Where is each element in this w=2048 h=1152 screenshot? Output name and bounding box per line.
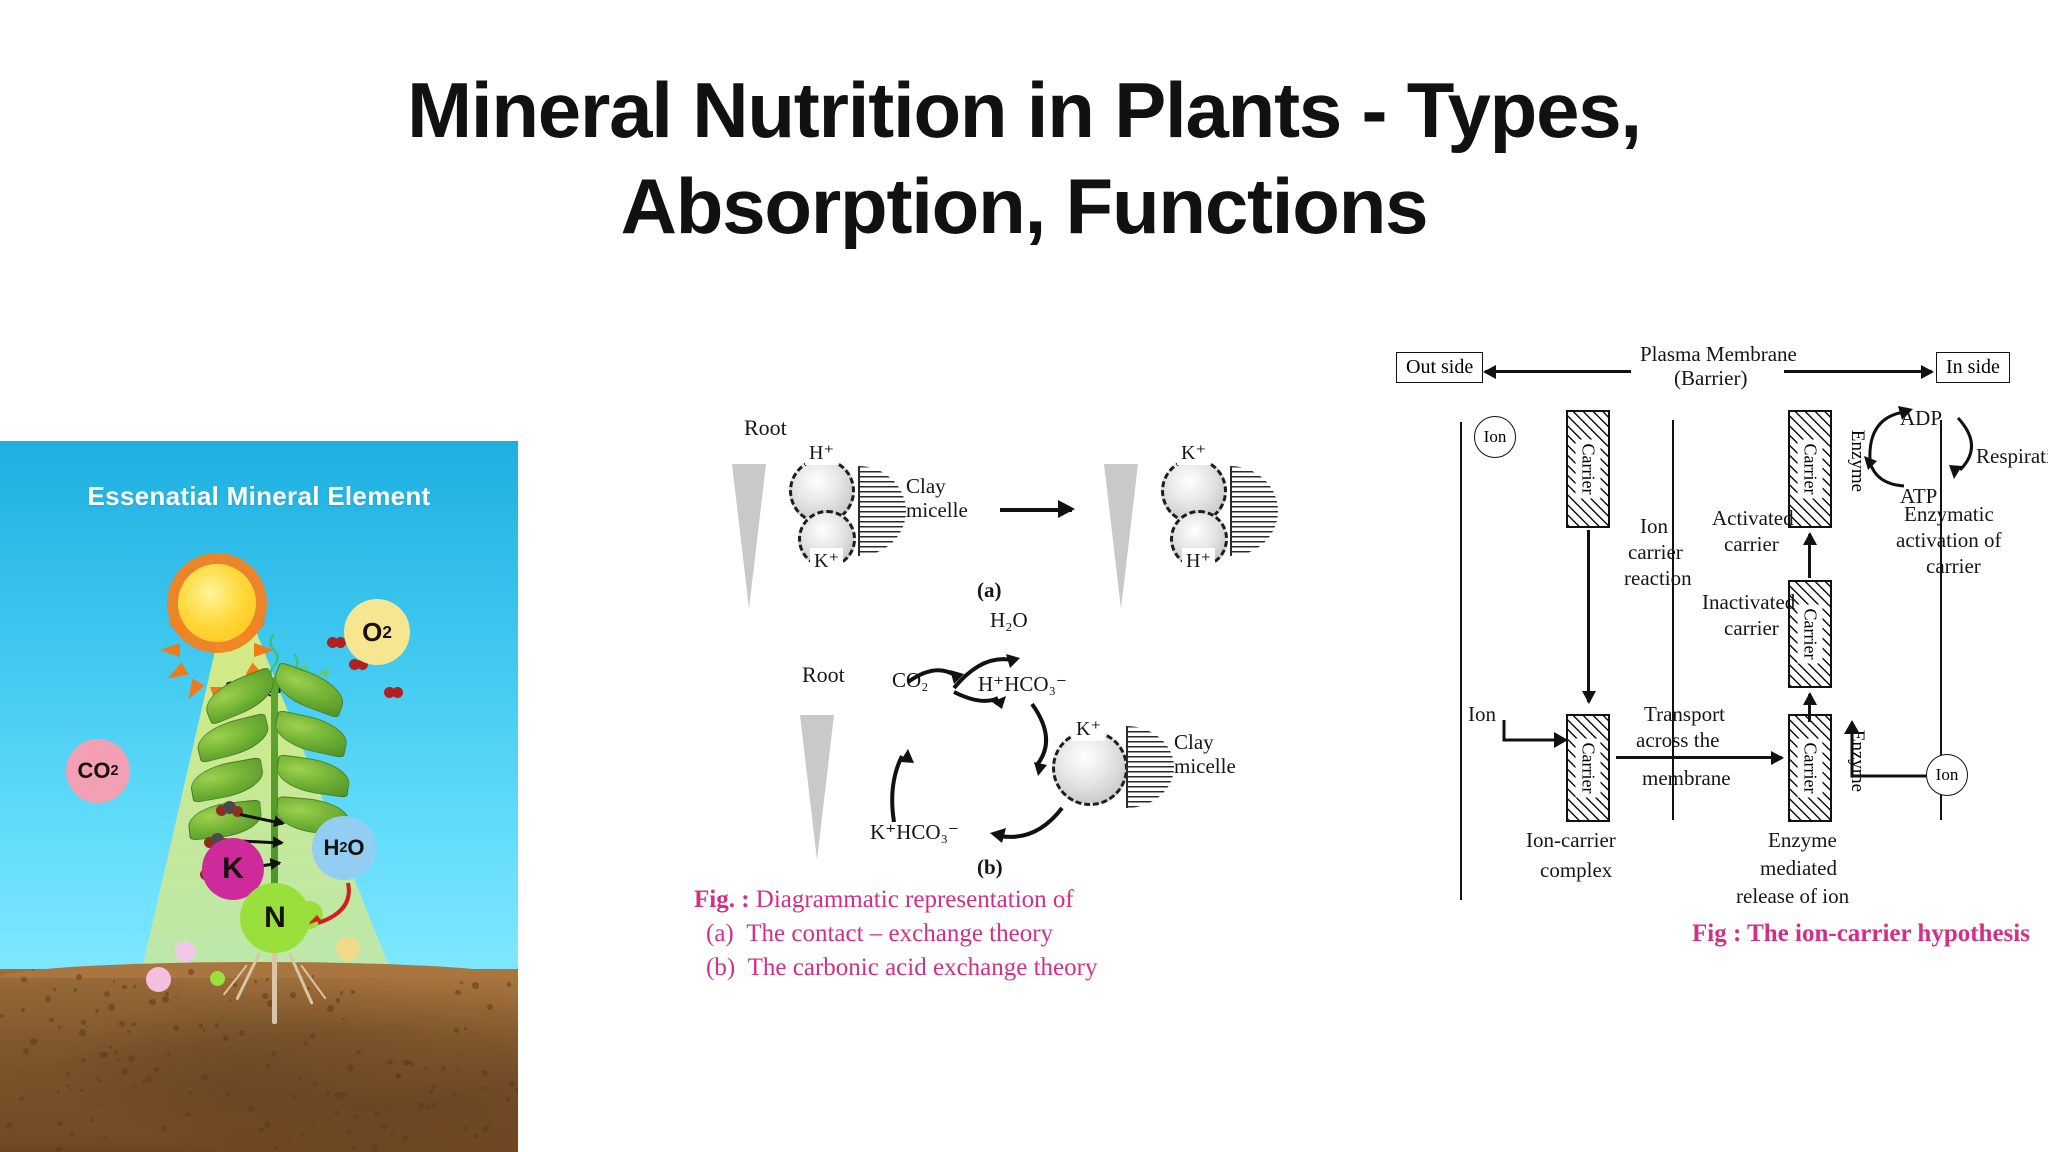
soil-speck: [133, 985, 136, 988]
figure-caption-line-2: (a) The contact – exchange theory: [706, 920, 1053, 948]
soil-speck: [76, 974, 82, 980]
soil-speck: [49, 1018, 54, 1023]
soil-speck: [122, 1068, 128, 1074]
soil-speck: [387, 1059, 393, 1065]
page-title: Mineral Nutrition in Plants - Types, Abs…: [0, 62, 2048, 254]
bubble-oxygen: O2: [344, 599, 410, 665]
soil-speck: [441, 1066, 446, 1071]
soil-speck: [310, 1052, 312, 1054]
soil-speck: [201, 1074, 208, 1081]
soil-speck: [431, 1103, 437, 1109]
carrier-label: Carrier: [1576, 440, 1601, 499]
bubble-oxygen-sub: 2: [382, 622, 392, 643]
clay-label-a1-line2: micelle: [906, 498, 968, 523]
soil-speck: [57, 1091, 60, 1094]
soil-speck: [161, 1126, 167, 1132]
soil-speck: [145, 1148, 148, 1151]
soil-speck: [290, 992, 295, 997]
bubble-k-label: K: [222, 852, 244, 886]
soil-speck: [103, 1136, 106, 1139]
transport-arrow: [1616, 756, 1782, 759]
soil-speck: [81, 1058, 86, 1063]
ion-carrier-complex-line2: complex: [1540, 858, 1612, 883]
soil-speck: [37, 1090, 39, 1092]
soil-speck: [271, 1051, 276, 1056]
carrier-ascend-arrow: [1808, 694, 1811, 722]
k-ion-label-a2: K⁺: [1177, 440, 1210, 465]
ion-carrier-reaction-line1: Ion: [1640, 514, 1668, 539]
nutrient-dot: [336, 937, 360, 961]
k-ion-label-a1: K⁺: [810, 548, 843, 573]
co2-molecule: [216, 801, 242, 819]
bubble-carbon-dioxide: CO2: [66, 739, 130, 803]
soil-speck: [131, 1022, 136, 1027]
bubble-h2o-sub: 2: [339, 840, 347, 856]
figure-caption-line-1: Fig. : Diagrammatic representation of: [694, 886, 1074, 914]
sub-caption-a: (a): [977, 578, 1002, 603]
plasma-membrane-label-line2: (Barrier): [1674, 366, 1747, 391]
page-title-line-2: Absorption, Functions: [0, 158, 2048, 254]
soil-speck: [45, 996, 51, 1002]
soil-speck: [460, 981, 463, 984]
soil-speck: [515, 1087, 518, 1093]
membrane-outer-boundary-left: [1460, 422, 1462, 900]
soil-speck: [66, 1072, 71, 1077]
soil-speck: [309, 1074, 312, 1077]
soil-speck: [233, 983, 236, 986]
soil-speck: [265, 1064, 270, 1069]
soil-speck: [57, 1121, 62, 1126]
bubble-co2-label: CO: [77, 758, 110, 784]
soil-speck: [81, 1020, 86, 1025]
membrane-boundary-inner: [1672, 420, 1674, 820]
soil-speck: [127, 1030, 130, 1033]
soil-speck: [482, 1125, 489, 1132]
soil-speck: [95, 1009, 99, 1013]
transport-line1: Transport: [1644, 702, 1725, 727]
soil-speck: [128, 1055, 135, 1062]
soil-speck: [472, 982, 478, 988]
ion-descend-arrow: [1587, 530, 1590, 702]
soil-speck: [374, 1111, 380, 1117]
soil-speck: [122, 985, 127, 990]
carrier-box-bottom-right: Carrier: [1788, 714, 1832, 822]
soil-speck: [352, 1146, 355, 1149]
soil-speck: [287, 1137, 291, 1141]
soil-speck: [99, 1104, 101, 1106]
soil-speck: [228, 1119, 230, 1121]
soil-speck: [142, 1079, 146, 1083]
carrier-label: Carrier: [1798, 605, 1823, 664]
soil-speck: [263, 1146, 267, 1150]
soil-speck: [87, 1026, 89, 1028]
soil-speck: [473, 1133, 478, 1138]
soil-speck: [149, 999, 156, 1006]
soil-speck: [162, 996, 169, 1003]
soil-speck: [113, 980, 115, 982]
soil-speck: [274, 1146, 278, 1150]
soil-speck: [21, 1008, 25, 1012]
soil-speck: [327, 1005, 334, 1012]
soil-speck: [119, 1021, 124, 1026]
soil-speck: [381, 1124, 387, 1130]
ion-circle-top-left: Ion: [1474, 416, 1516, 458]
soil-speck: [395, 1073, 401, 1079]
soil-speck: [481, 1086, 485, 1090]
figure-caption-prefix: Fig. :: [694, 886, 750, 913]
soil-speck: [391, 1131, 394, 1134]
soil-speck: [214, 1023, 219, 1028]
figure-caption-a-marker: (a): [706, 920, 734, 947]
carrier-label: Carrier: [1798, 440, 1823, 499]
soil-speck: [114, 1051, 117, 1054]
soil-speck: [423, 1067, 427, 1071]
carrier-box-top-right: Carrier: [1788, 410, 1832, 528]
soil-layer: [0, 969, 518, 1152]
membrane-span-arrow-right: [1784, 370, 1932, 373]
bubble-h2o-tail: O: [347, 835, 364, 861]
bubble-water: H2O: [312, 816, 376, 880]
ion-carrier-complex-line1: Ion-carrier: [1526, 828, 1616, 853]
h-ion-label-a1: H⁺: [805, 440, 838, 465]
root-label-a1: Root: [744, 415, 787, 441]
ion-carrier-hypothesis-caption: Fig : The ion-carrier hypothesis: [1692, 920, 2030, 948]
soil-speck: [292, 1095, 296, 1099]
soil-speck: [30, 1038, 37, 1045]
soil-speck: [19, 1096, 24, 1101]
k-ion-label-b: K⁺: [1072, 716, 1105, 741]
clay-particle-a1: [858, 466, 906, 556]
ion-carrier-reaction-line3: reaction: [1624, 566, 1692, 591]
carrier-box-bottom-left: Carrier: [1566, 714, 1610, 822]
membrane-span-arrow-left: [1485, 370, 1631, 373]
figure-caption-b-marker: (b): [706, 954, 735, 981]
soil-speck: [146, 1109, 148, 1111]
soil-speck: [154, 1067, 159, 1072]
soil-speck: [165, 992, 169, 996]
soil-speck: [175, 996, 177, 998]
soil-speck: [198, 1023, 203, 1028]
enzyme-mediated-line1: Enzyme: [1768, 828, 1837, 853]
soil-speck: [167, 1053, 170, 1056]
soil-speck: [454, 1028, 459, 1033]
exchange-arrow-a: [1000, 508, 1072, 512]
soil-speck: [514, 1105, 517, 1108]
soil-speck: [32, 969, 34, 971]
soil-speck: [372, 1144, 378, 1150]
soil-speck: [356, 1050, 361, 1055]
bubble-n-label: N: [264, 901, 286, 935]
soil-speck: [347, 1130, 351, 1134]
soil-speck: [56, 1147, 62, 1152]
inactivated-carrier-line2: carrier: [1724, 616, 1779, 641]
soil-speck: [0, 1014, 4, 1018]
carrier-label: Carrier: [1576, 739, 1601, 798]
soil-speck: [109, 1045, 113, 1049]
soil-speck: [239, 1030, 245, 1036]
soil-speck: [266, 978, 269, 981]
carrier-box-top-left: Carrier: [1566, 410, 1610, 528]
soil-speck: [506, 1097, 511, 1102]
clay-micelle-b: [1052, 730, 1128, 806]
soil-speck: [375, 1103, 377, 1105]
soil-speck: [258, 1127, 265, 1134]
clay-label-b-line2: micelle: [1174, 754, 1236, 779]
soil-speck: [21, 977, 27, 983]
soil-speck: [74, 988, 77, 991]
enzyme-mediated-line3: release of ion: [1736, 884, 1849, 909]
soil-speck: [351, 990, 354, 993]
soil-speck: [226, 1091, 231, 1096]
figure-caption-text: Diagrammatic representation of: [756, 886, 1074, 913]
clay-label-a1-line1: Clay: [906, 474, 946, 499]
page-title-line-1: Mineral Nutrition in Plants - Types,: [0, 62, 2048, 158]
soil-speck: [487, 1004, 493, 1010]
soil-speck: [53, 988, 56, 991]
plasma-membrane-label-line1: Plasma Membrane: [1640, 342, 1797, 367]
soil-speck: [342, 1018, 345, 1021]
soil-speck: [146, 1076, 152, 1082]
soil-speck: [464, 1126, 470, 1132]
ion-carrier-hypothesis-diagram: Out side In side Plasma Membrane (Barrie…: [1460, 430, 2048, 1152]
enzymatic-activation-line3: carrier: [1926, 554, 1981, 579]
soil-speck: [99, 1080, 102, 1083]
soil-speck: [355, 1115, 359, 1119]
soil-speck: [17, 1071, 19, 1073]
soil-speck: [402, 1136, 408, 1142]
soil-speck: [299, 1133, 304, 1138]
ion-release-arrow: [1832, 718, 1936, 788]
root-wedge-a1: [732, 464, 766, 609]
transport-line3: membrane: [1642, 766, 1731, 791]
soil-speck: [134, 1084, 137, 1087]
soil-speck: [210, 1116, 212, 1118]
soil-speck: [339, 1092, 346, 1099]
soil-speck: [429, 1089, 434, 1094]
ion-carrier-reaction-line2: carrier: [1628, 540, 1683, 565]
soil-speck: [188, 969, 194, 975]
enzymatic-activation-line1: Enzymatic: [1904, 502, 1994, 527]
soil-speck: [507, 982, 511, 986]
nutrient-dot: [146, 967, 171, 992]
out-side-label: Out side: [1396, 352, 1483, 383]
soil-speck: [326, 1091, 330, 1095]
soil-speck: [104, 991, 110, 997]
soil-speck: [340, 991, 344, 995]
soil-speck: [23, 1048, 29, 1054]
soil-speck: [310, 1033, 316, 1039]
root-wedge-a2: [1104, 464, 1138, 609]
nutrient-dot: [175, 941, 196, 962]
soil-speck: [58, 1026, 60, 1028]
soil-speck: [254, 980, 257, 983]
soil-speck: [462, 1055, 464, 1057]
soil-speck: [248, 1106, 255, 1113]
clay-label-b-line1: Clay: [1174, 730, 1214, 755]
in-side-label: In side: [1936, 352, 2010, 383]
figure-caption-line-3: (b) The carbonic acid exchange theory: [706, 954, 1097, 982]
soil-speck: [229, 999, 231, 1001]
soil-speck: [264, 1121, 270, 1127]
soil-speck: [312, 1080, 318, 1086]
soil-speck: [69, 1132, 73, 1136]
bubble-h2o-label: H: [323, 835, 339, 861]
soil-speck: [455, 990, 461, 996]
exchange-theory-diagram: Root H⁺ K⁺ Clay micelle K⁺ H⁺ (a) Root C…: [700, 430, 1360, 1152]
soil-speck: [319, 1058, 321, 1060]
soil-speck: [108, 1004, 115, 1011]
soil-speck: [481, 1070, 488, 1077]
soil-speck: [464, 1027, 467, 1030]
activated-carrier-line2: carrier: [1724, 532, 1779, 557]
activated-carrier-line1: Activated: [1712, 506, 1794, 531]
soil-speck: [70, 1088, 72, 1090]
soil-speck: [303, 1041, 309, 1047]
carrier-recycle-arrow: [1808, 534, 1811, 578]
soil-speck: [336, 998, 341, 1003]
soil-speck: [188, 1146, 191, 1149]
soil-speck: [347, 1064, 354, 1071]
essential-mineral-element-illustration: Essenatial Mineral Element Sunlight: [0, 441, 518, 1152]
soil-speck: [6, 1122, 13, 1129]
soil-speck: [313, 1123, 315, 1125]
soil-speck: [262, 993, 268, 999]
ion-label-bottom-left: Ion: [1468, 702, 1496, 727]
ion-enter-arrow: [1500, 718, 1570, 758]
soil-speck: [457, 1068, 460, 1071]
carrier-label: Carrier: [1798, 739, 1823, 798]
soil-speck: [426, 1105, 430, 1109]
soil-speck: [334, 1110, 339, 1115]
root-label-b: Root: [802, 662, 845, 688]
h-ion-label-a2: H⁺: [1182, 548, 1215, 573]
soil-speck: [452, 1091, 457, 1096]
inactivated-carrier-line1: Inactivated: [1702, 590, 1795, 615]
nutrient-dot: [210, 971, 225, 986]
soil-speck: [67, 1084, 70, 1087]
sun-icon: [178, 564, 256, 642]
illustration-heading: Essenatial Mineral Element: [0, 481, 518, 512]
soil-speck: [188, 1091, 193, 1096]
bubble-oxygen-label: O: [362, 617, 382, 648]
slide-canvas: Mineral Nutrition in Plants - Types, Abs…: [0, 0, 2048, 1152]
soil-speck: [80, 1089, 84, 1093]
clay-particle-a2: [1230, 466, 1278, 556]
soil-speck: [409, 1061, 414, 1066]
soil-speck: [79, 1029, 86, 1036]
soil-speck: [99, 1052, 106, 1059]
soil-speck: [185, 1112, 190, 1117]
soil-speck: [312, 975, 314, 977]
root-wedge-b: [800, 715, 834, 860]
soil-speck: [90, 1118, 94, 1122]
bubble-co2-sub: 2: [110, 763, 118, 779]
transport-line2: across the: [1636, 728, 1719, 753]
enzymatic-activation-line2: activation of: [1896, 528, 2002, 553]
sub-caption-b: (b): [977, 855, 1003, 880]
soil-speck: [418, 1102, 425, 1109]
soil-speck: [96, 1077, 99, 1080]
bubble-nitrogen: N: [240, 883, 310, 953]
enzyme-mediated-line2: mediated: [1760, 856, 1837, 881]
soil-speck: [402, 1060, 409, 1067]
soil-speck: [173, 1025, 179, 1031]
soil-speck: [203, 1029, 205, 1031]
soil-speck: [223, 1035, 229, 1041]
soil-speck: [299, 1078, 302, 1081]
soil-speck: [117, 1058, 120, 1061]
figure-caption-a-text: The contact – exchange theory: [746, 920, 1053, 947]
soil-speck: [509, 1081, 515, 1087]
soil-speck: [453, 1138, 455, 1140]
figure-caption-b-text: The carbonic acid exchange theory: [748, 954, 1098, 981]
o2-molecule: [384, 687, 404, 699]
